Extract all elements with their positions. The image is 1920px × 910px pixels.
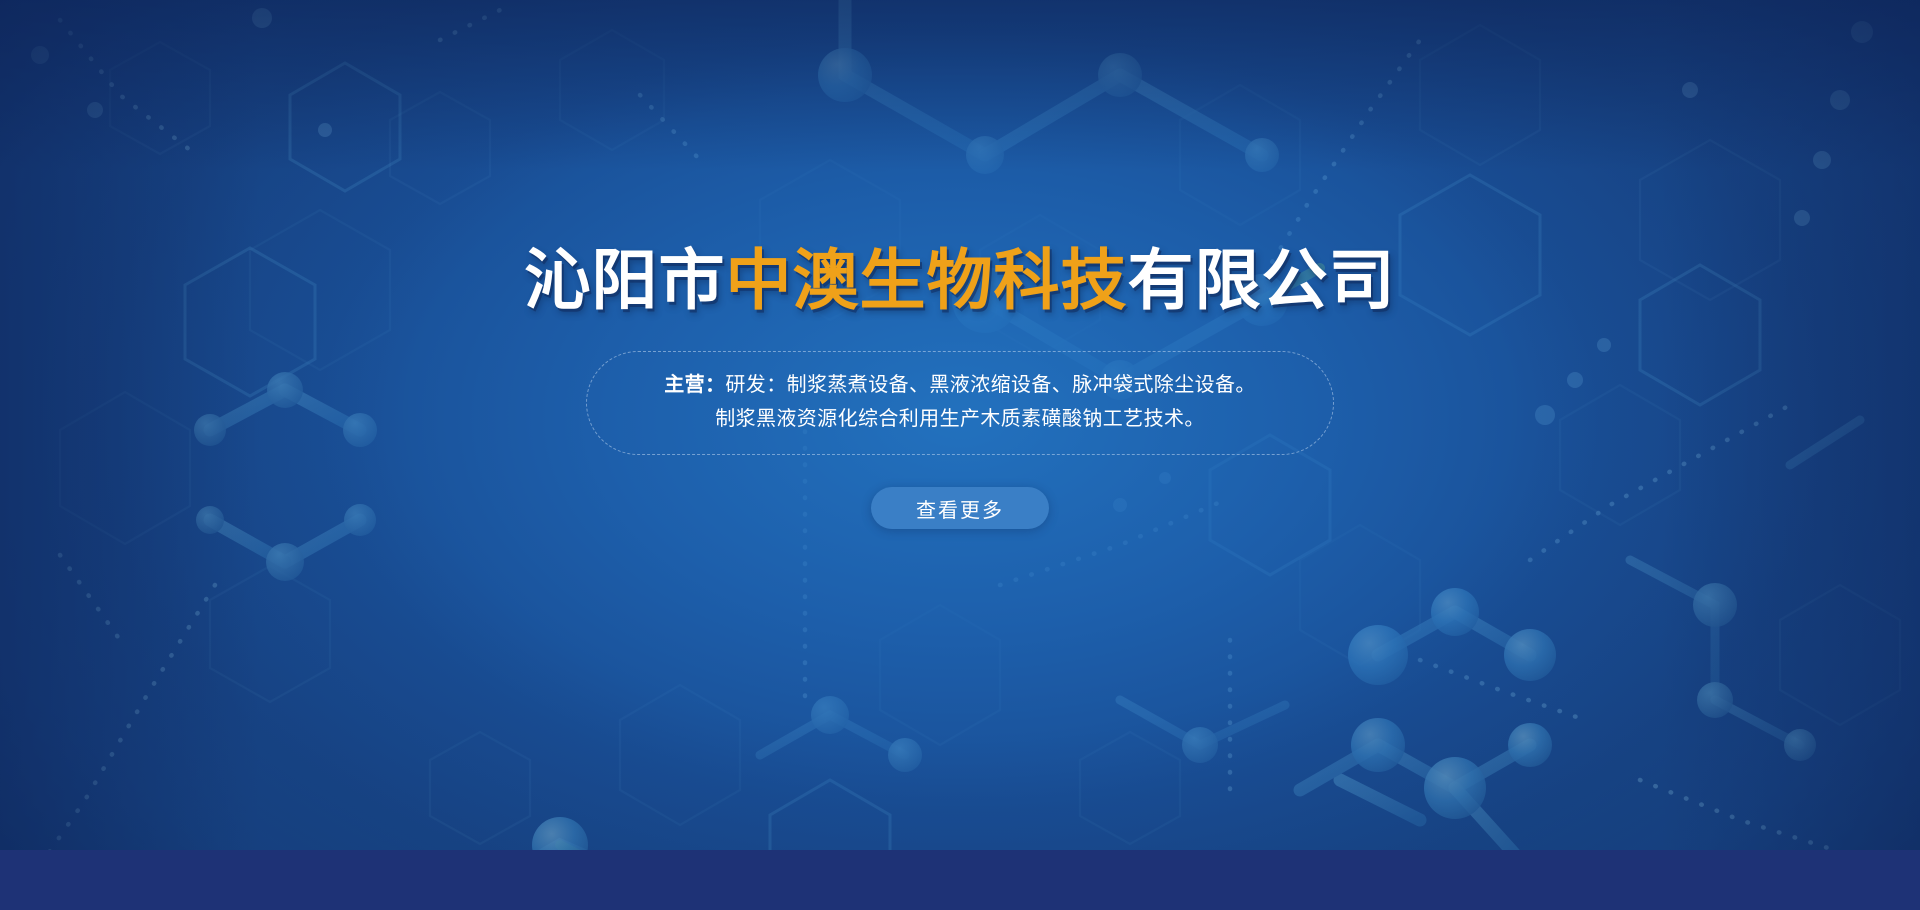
- footer-strip: [0, 850, 1920, 910]
- tagline-line-1: 主营：研发：制浆蒸煮设备、黑液浓缩设备、脉冲袋式除尘设备。: [617, 368, 1303, 402]
- company-title-highlight: 中澳生物科技: [726, 243, 1128, 317]
- tagline-line-1-text: 研发：制浆蒸煮设备、黑液浓缩设备、脉冲袋式除尘设备。: [725, 374, 1255, 396]
- company-title-prefix: 沁阳市: [525, 243, 726, 317]
- tagline-box: 主营：研发：制浆蒸煮设备、黑液浓缩设备、脉冲袋式除尘设备。 制浆黑液资源化综合利…: [586, 351, 1334, 455]
- tagline-line-2: 制浆黑液资源化综合利用生产木质素磺酸钠工艺技术。: [617, 402, 1303, 436]
- company-title-suffix: 有限公司: [1128, 243, 1396, 317]
- hero-banner: 沁阳市中澳生物科技有限公司 主营：研发：制浆蒸煮设备、黑液浓缩设备、脉冲袋式除尘…: [0, 0, 1920, 910]
- tagline-lead-label: 主营：: [664, 374, 725, 396]
- company-title: 沁阳市中澳生物科技有限公司: [525, 247, 1396, 313]
- hero-content: 沁阳市中澳生物科技有限公司 主营：研发：制浆蒸煮设备、黑液浓缩设备、脉冲袋式除尘…: [0, 0, 1920, 850]
- view-more-button[interactable]: 查看更多: [871, 487, 1049, 529]
